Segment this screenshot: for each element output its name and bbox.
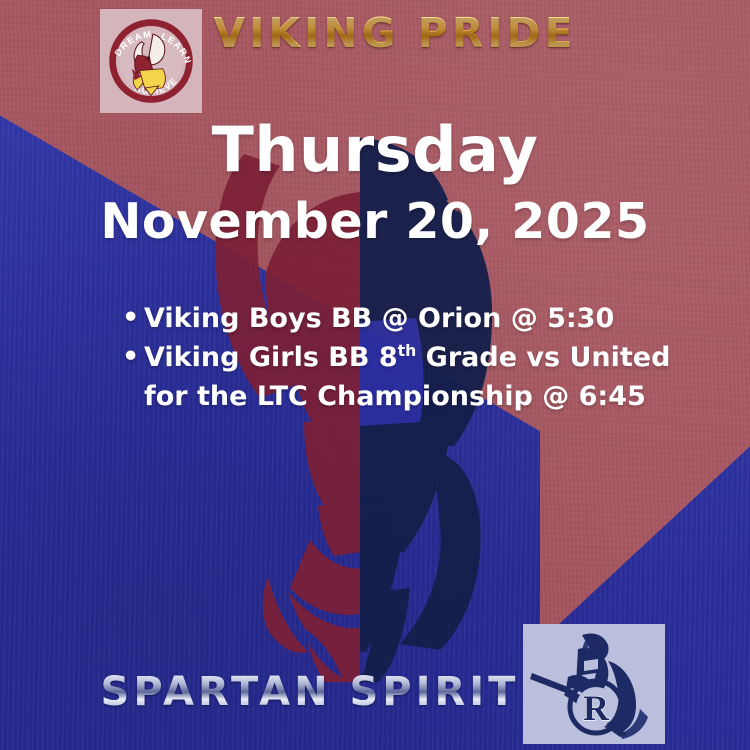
event-text: Viking Girls BB 8 — [144, 342, 398, 373]
bullet-glyph: • — [122, 338, 139, 376]
spartan-warrior-logo: R — [523, 624, 665, 744]
announcement-poster: DREAM LEARN ACHIEVE VIKING PRIDE Thursd — [0, 0, 750, 750]
headline-day: Thursday — [0, 118, 750, 181]
bullet-glyph: • — [122, 299, 139, 337]
list-item: •Viking Boys BB @ Orion @ 5:30 — [118, 300, 678, 338]
events-list: •Viking Boys BB @ Orion @ 5:30 •Viking G… — [118, 300, 678, 417]
spartan-spirit-banner: SPARTAN SPIRIT — [95, 672, 525, 712]
event-text: Viking Boys BB @ Orion @ 5:30 — [144, 303, 614, 334]
shield-letter: R — [583, 688, 610, 728]
viking-pride-banner: VIKING PRIDE — [0, 13, 750, 54]
list-item: •Viking Girls BB 8th Grade vs United for… — [118, 339, 678, 416]
event-text-superscript: th — [398, 341, 417, 360]
headline-date: November 20, 2025 — [0, 196, 750, 247]
